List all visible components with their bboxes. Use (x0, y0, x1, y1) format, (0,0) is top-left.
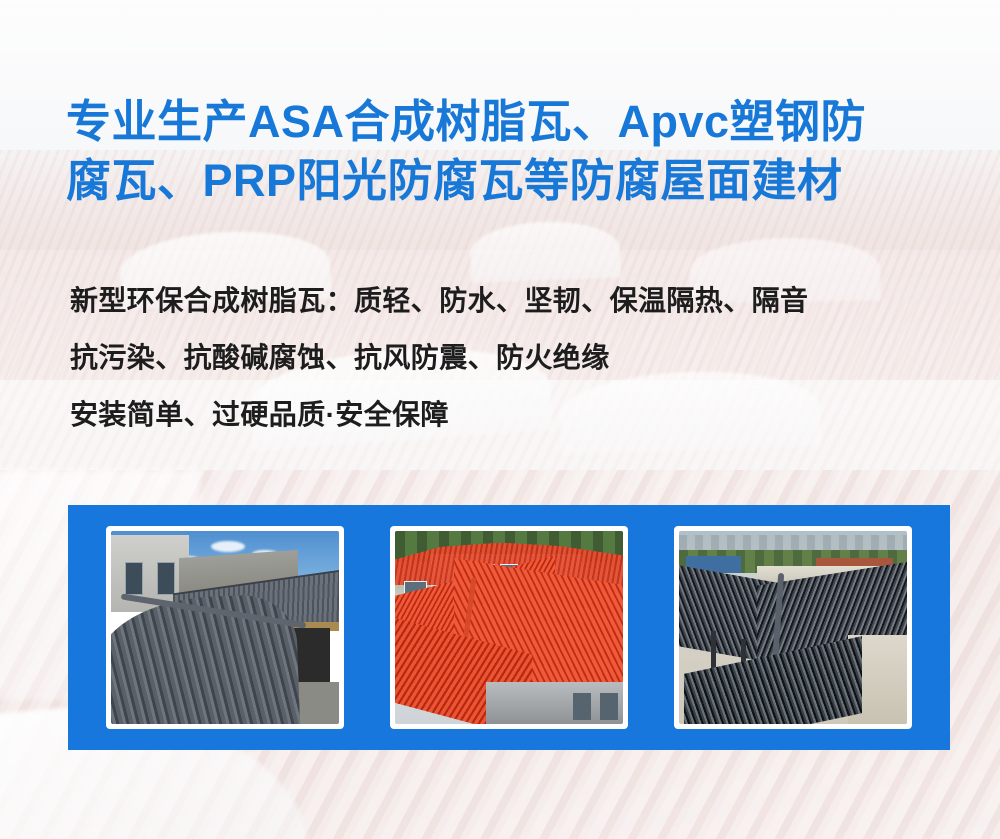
photo-image (679, 531, 907, 724)
photo-image (111, 531, 339, 724)
window (573, 693, 591, 720)
subheadline-line-1: 新型环保合成树脂瓦：质轻、防水、坚韧、保温隔热、隔音 (70, 272, 960, 329)
window (125, 562, 143, 595)
subheadline-line-3: 安装简单、过硬品质·安全保障 (70, 386, 960, 443)
headline: 专业生产ASA合成树脂瓦、Apvc塑钢防 腐瓦、PRP阳光防腐瓦等防腐屋面建材 (66, 92, 946, 210)
photo-red-asa-tile-roof[interactable]: 红色ASA合成树脂瓦屋面实景 (390, 526, 628, 729)
cloud-shape (211, 541, 245, 552)
photo-image (395, 531, 623, 724)
headline-line-2: 腐瓦、PRP阳光防腐瓦等防腐屋面建材 (66, 151, 946, 210)
photo-black-tile-roof[interactable]: 黑色合成树脂瓦屋面实景 (674, 526, 912, 729)
subheadline-line-2: 抗污染、抗酸碱腐蚀、抗风防震、防火绝缘 (70, 329, 960, 386)
photo-grey-resin-tile-roof[interactable]: 灰色合成树脂瓦屋面实景 (106, 526, 344, 729)
window (600, 693, 618, 720)
banner-content: 专业生产ASA合成树脂瓦、Apvc塑钢防 腐瓦、PRP阳光防腐瓦等防腐屋面建材 … (0, 0, 1000, 839)
window (157, 562, 175, 595)
subheadline: 新型环保合成树脂瓦：质轻、防水、坚韧、保温隔热、隔音 抗污染、抗酸碱腐蚀、抗风防… (70, 272, 960, 443)
headline-line-1: 专业生产ASA合成树脂瓦、Apvc塑钢防 (66, 92, 946, 151)
photo-gallery-panel: 灰色合成树脂瓦屋面实景 (68, 505, 950, 750)
product-banner: 淡化处理的红色瓦屋面背景照片 专业生产ASA合成树脂瓦、Apvc塑钢防 腐瓦、P… (0, 0, 1000, 839)
